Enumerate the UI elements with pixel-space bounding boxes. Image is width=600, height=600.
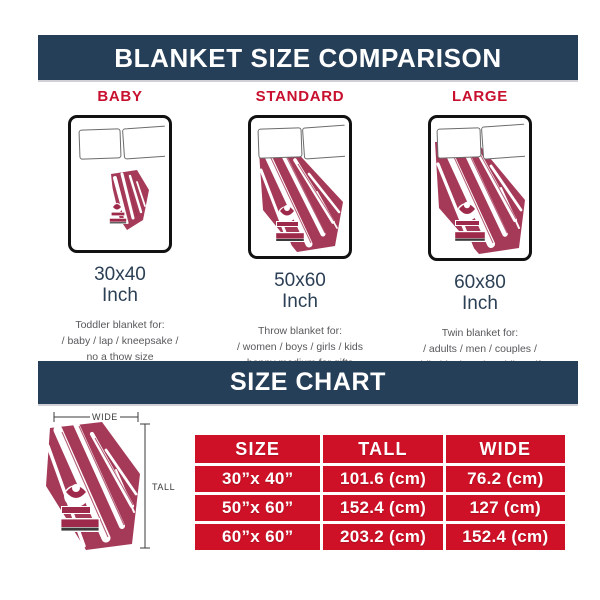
column-header-wide: WIDE bbox=[446, 435, 565, 463]
size-value-baby: 30x40 bbox=[94, 264, 146, 285]
cell-size: 30”x 40” bbox=[195, 466, 320, 492]
bed-inner-large bbox=[435, 122, 525, 254]
size-label-large: 60x80 Inch bbox=[454, 272, 506, 315]
cell-wide: 76.2 (cm) bbox=[446, 466, 565, 492]
pillow-left-icon bbox=[257, 127, 302, 159]
aggies-wordmark-logo bbox=[454, 231, 486, 242]
bed-illustration-baby bbox=[68, 115, 172, 253]
cell-wide: 152.4 (cm) bbox=[446, 524, 565, 550]
bed-illustration-standard bbox=[248, 115, 352, 259]
table-row: 50”x 60” 152.4 (cm) 127 (cm) bbox=[195, 495, 565, 521]
table-header-row: SIZE TALL WIDE bbox=[195, 435, 565, 463]
blanket-art-standard bbox=[257, 148, 345, 252]
table-row: 30”x 40” 101.6 (cm) 76.2 (cm) bbox=[195, 466, 565, 492]
cell-wide: 127 (cm) bbox=[446, 495, 565, 521]
banner-size-chart-title: SIZE CHART bbox=[230, 370, 386, 395]
size-chart-table: SIZE TALL WIDE 30”x 40” 101.6 (cm) 76.2 … bbox=[192, 432, 568, 553]
size-label-baby: 30x40 Inch bbox=[94, 264, 146, 307]
bed-inner-baby bbox=[75, 122, 165, 246]
size-value-standard: 50x60 bbox=[274, 270, 326, 291]
aggies-wordmark-logo bbox=[60, 518, 100, 532]
cell-tall: 152.4 (cm) bbox=[323, 495, 442, 521]
size-label-standard: 50x60 Inch bbox=[274, 270, 326, 313]
cell-size: 50”x 60” bbox=[195, 495, 320, 521]
column-title-baby: BABY bbox=[97, 88, 142, 105]
blanket-art-baby bbox=[97, 168, 157, 234]
cell-tall: 101.6 (cm) bbox=[323, 466, 442, 492]
tall-measure-line bbox=[140, 424, 150, 548]
pillow-right-icon bbox=[481, 123, 525, 159]
column-title-standard: STANDARD bbox=[256, 88, 345, 105]
comparison-column-large: LARGE bbox=[390, 88, 570, 373]
aggies-wordmark-logo bbox=[109, 218, 127, 224]
pillow-left-icon bbox=[436, 127, 481, 159]
wide-dimension-label: WIDE bbox=[90, 412, 120, 422]
bed-inner-standard bbox=[255, 122, 345, 252]
aggies-wordmark-logo bbox=[275, 232, 305, 242]
dimension-diagram: WIDE TALL bbox=[28, 408, 178, 568]
size-chart-area: WIDE TALL SIZE TALL WIDE 30”x 40” 101.6 … bbox=[0, 408, 600, 573]
comparison-columns: BABY bbox=[30, 88, 570, 373]
description-baby: Toddler blanket for: / baby / lap / knee… bbox=[62, 317, 179, 366]
banner-blanket-size-comparison: BLANKET SIZE COMPARISON bbox=[38, 35, 578, 80]
tall-dimension-label: TALL bbox=[150, 482, 177, 492]
column-title-large: LARGE bbox=[452, 88, 508, 105]
banner-size-chart: SIZE CHART bbox=[38, 361, 578, 404]
pillow-left-icon bbox=[78, 128, 121, 159]
size-unit-standard: Inch bbox=[282, 291, 318, 312]
bed-illustration-large bbox=[428, 115, 532, 261]
column-header-tall: TALL bbox=[323, 435, 442, 463]
banner-comparison-title: BLANKET SIZE COMPARISON bbox=[114, 45, 501, 71]
size-value-large: 60x80 bbox=[454, 272, 506, 293]
pillow-right-icon bbox=[302, 124, 345, 159]
cell-tall: 203.2 (cm) bbox=[323, 524, 442, 550]
cell-size: 60”x 60” bbox=[195, 524, 320, 550]
comparison-column-standard: STANDARD bbox=[210, 88, 390, 373]
pillow-right-icon bbox=[122, 125, 165, 159]
size-unit-large: Inch bbox=[462, 293, 498, 314]
size-unit-baby: Inch bbox=[102, 285, 138, 306]
column-header-size: SIZE bbox=[195, 435, 320, 463]
comparison-column-baby: BABY bbox=[30, 88, 210, 373]
table-row: 60”x 60” 203.2 (cm) 152.4 (cm) bbox=[195, 524, 565, 550]
